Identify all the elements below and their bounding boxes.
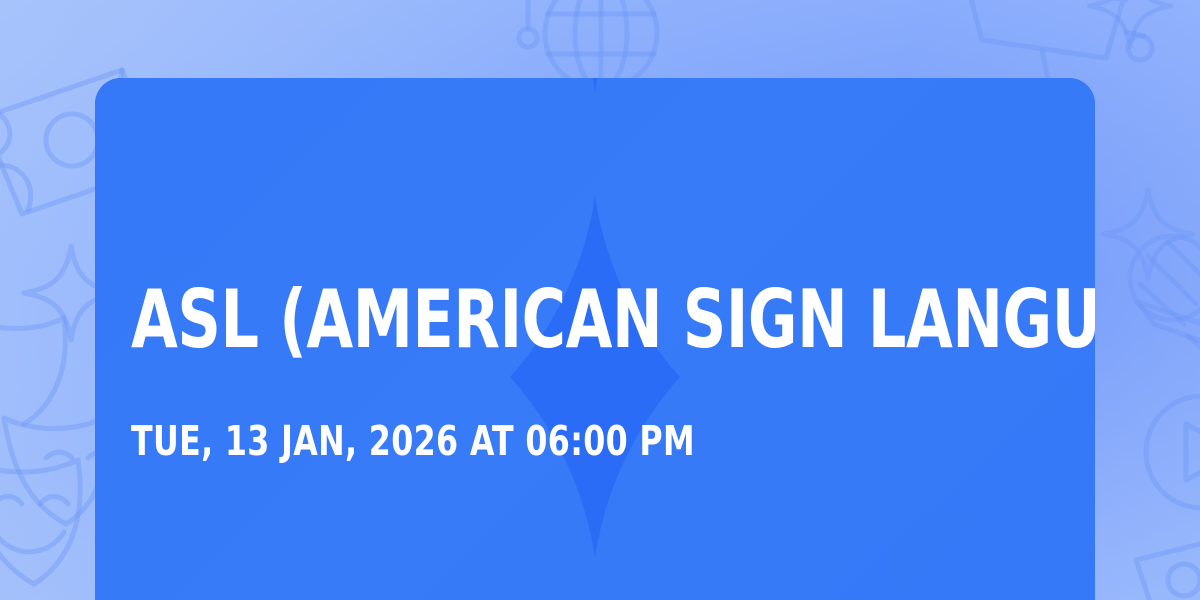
event-card-content: ASL (American Sign Language) Tue, 13 Jan…: [131, 78, 1051, 600]
event-date: Tue, 13 Jan, 2026 at 06:00 PM: [131, 418, 695, 464]
event-title: ASL (American Sign Language): [131, 278, 921, 362]
event-card[interactable]: ASL (American Sign Language) Tue, 13 Jan…: [95, 78, 1095, 600]
event-banner: ASL (American Sign Language) Tue, 13 Jan…: [0, 0, 1200, 600]
